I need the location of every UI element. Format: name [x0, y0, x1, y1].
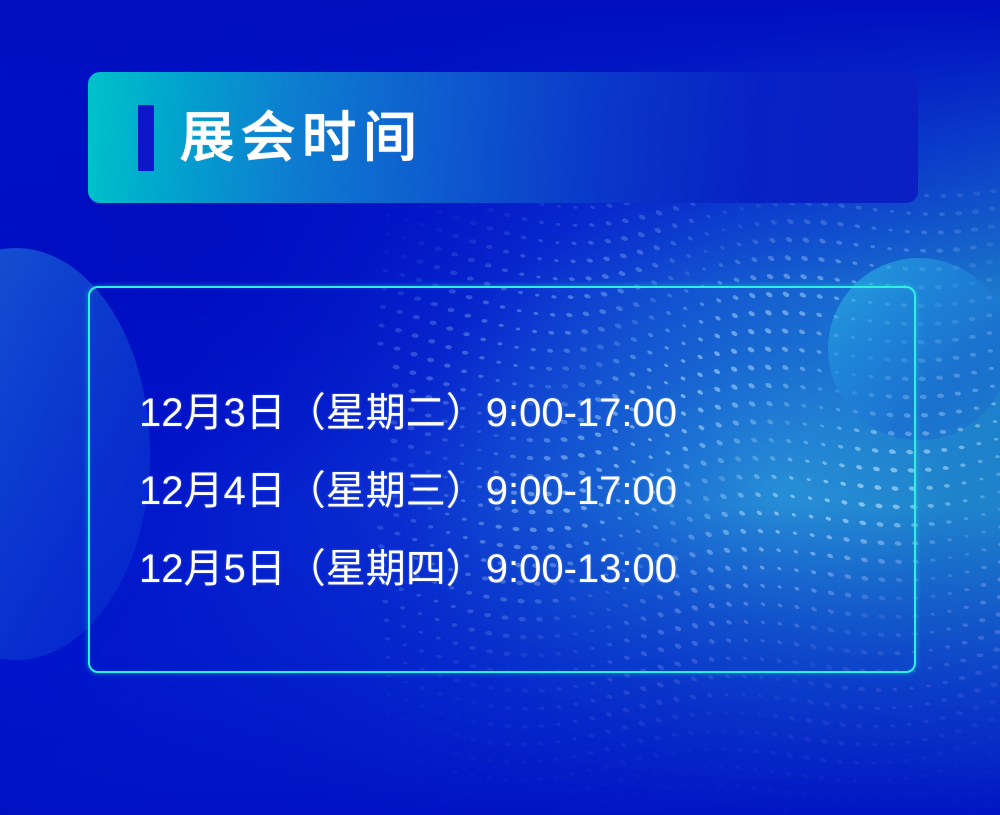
section-title-banner: 展会时间 [88, 72, 918, 203]
list-item: 12月3日（星期二）9:00-17:00 [139, 374, 739, 452]
schedule-list: 12月3日（星期二）9:00-17:00 12月4日（星期三）9:00-17:0… [139, 374, 739, 608]
title-accent-bar [138, 105, 154, 171]
list-item: 12月4日（星期三）9:00-17:00 [139, 452, 739, 530]
page-title: 展会时间 [180, 111, 424, 165]
list-item: 12月5日（星期四）9:00-13:00 [139, 530, 739, 608]
poster-canvas: 展会时间 12月3日（星期二）9:00-17:00 12月4日（星期三）9:00… [0, 0, 1000, 815]
